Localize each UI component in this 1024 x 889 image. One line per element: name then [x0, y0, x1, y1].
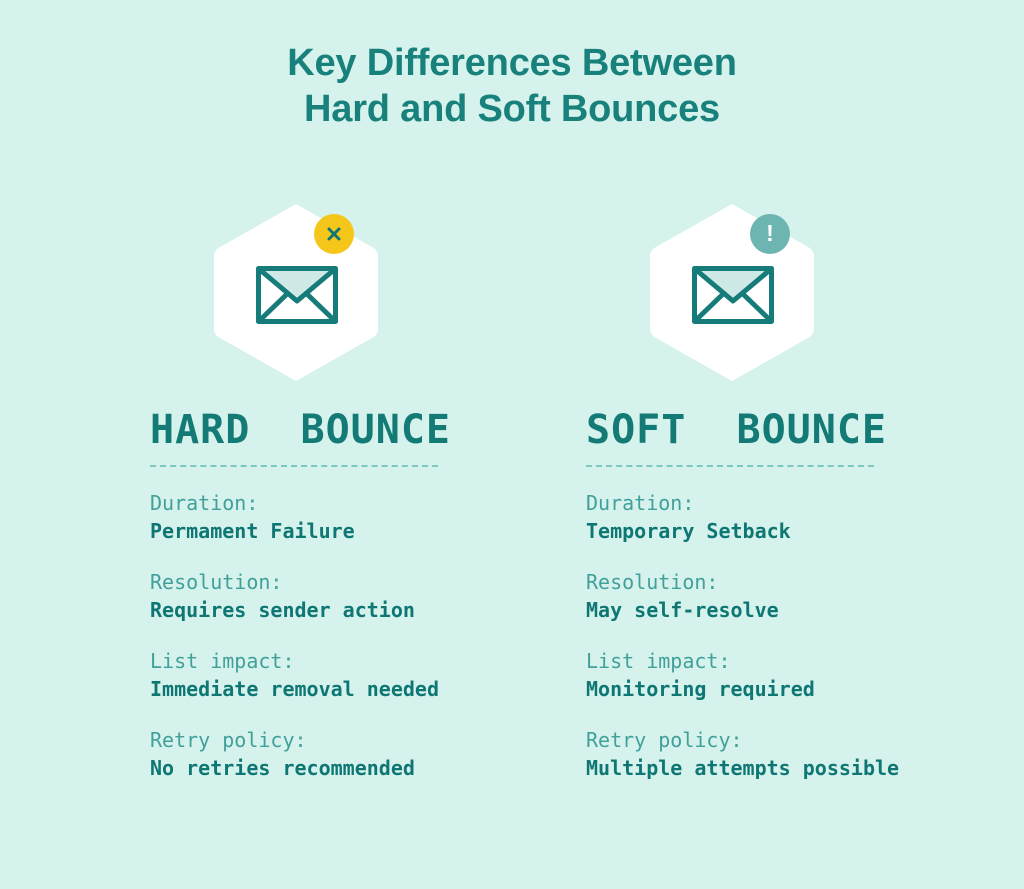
fact-item: Duration: Permament Failure — [150, 489, 480, 545]
soft-bounce-divider — [586, 465, 874, 467]
fact-label: Resolution: — [586, 568, 916, 596]
warning-exclamation-icon: ! — [750, 214, 790, 254]
fact-label: List impact: — [150, 647, 480, 675]
hard-bounce-divider — [150, 465, 438, 467]
soft-bounce-heading: SOFT BOUNCE — [586, 407, 916, 453]
fact-value: Multiple attempts possible — [586, 754, 916, 782]
hard-bounce-facts: Duration: Permament Failure Resolution: … — [150, 489, 480, 782]
fact-item: Retry policy: Multiple attempts possible — [586, 726, 916, 782]
fact-label: Resolution: — [150, 568, 480, 596]
infographic-page: { "theme": { "background": "#d6f2ec", "t… — [0, 0, 1024, 889]
hard-bounce-heading: HARD BOUNCE — [150, 407, 480, 453]
fact-label: Duration: — [586, 489, 916, 517]
fact-value: Immediate removal needed — [150, 675, 480, 703]
soft-bounce-facts: Duration: Temporary Setback Resolution: … — [586, 489, 916, 782]
fact-value: Requires sender action — [150, 596, 480, 624]
hard-bounce-icon-group — [210, 200, 395, 385]
soft-bounce-icon-group: ! — [646, 200, 831, 385]
fact-label: Duration: — [150, 489, 480, 517]
fact-value: Monitoring required — [586, 675, 916, 703]
fact-value: Permament Failure — [150, 517, 480, 545]
fact-item: Resolution: May self-resolve — [586, 568, 916, 624]
page-title-line-1: Key Differences Between — [0, 40, 1024, 86]
fact-item: Retry policy: No retries recommended — [150, 726, 480, 782]
fact-item: Duration: Temporary Setback — [586, 489, 916, 545]
fact-label: Retry policy: — [150, 726, 480, 754]
fact-item: Resolution: Requires sender action — [150, 568, 480, 624]
fact-item: List impact: Monitoring required — [586, 647, 916, 703]
fact-item: List impact: Immediate removal needed — [150, 647, 480, 703]
page-title: Key Differences Between Hard and Soft Bo… — [0, 40, 1024, 132]
fact-label: List impact: — [586, 647, 916, 675]
column-hard-bounce: HARD BOUNCE Duration: Permament Failure … — [140, 200, 480, 782]
page-title-line-2: Hard and Soft Bounces — [0, 86, 1024, 132]
comparison-columns: HARD BOUNCE Duration: Permament Failure … — [0, 200, 1024, 840]
envelope-icon — [690, 263, 776, 327]
fact-label: Retry policy: — [586, 726, 916, 754]
error-x-icon — [314, 214, 354, 254]
fact-value: May self-resolve — [586, 596, 916, 624]
envelope-icon — [254, 263, 340, 327]
fact-value: No retries recommended — [150, 754, 480, 782]
fact-value: Temporary Setback — [586, 517, 916, 545]
exclamation-glyph: ! — [766, 222, 774, 245]
column-soft-bounce: ! SOFT BOUNCE Duration: Temporary Setbac… — [576, 200, 916, 782]
